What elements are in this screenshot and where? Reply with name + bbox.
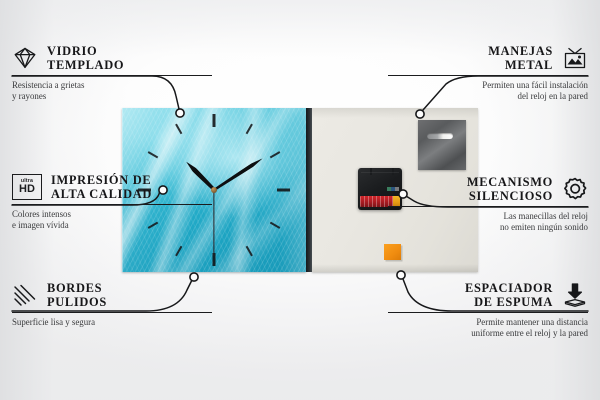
polished-edges-icon xyxy=(12,282,38,308)
feature-divider xyxy=(388,312,588,313)
feature-title: ESPACIADOR DE ESPUMA xyxy=(465,281,553,309)
feature-title: VIDRIO TEMPLADO xyxy=(47,44,124,72)
feature-description: Permiten una fácil instalación del reloj… xyxy=(388,80,588,102)
feature-header: MECANISMO SILENCIOSO xyxy=(388,175,588,203)
feature-title: MECANISMO SILENCIOSO xyxy=(467,175,553,203)
picture-hanger-icon xyxy=(562,45,588,71)
back-bottom-shading xyxy=(312,264,478,272)
infographic-canvas: VIDRIO TEMPLADO Resistencia a grietas y … xyxy=(0,0,600,400)
feature-divider xyxy=(388,206,588,207)
feature-header: ESPACIADOR DE ESPUMA xyxy=(388,281,588,309)
feature-header: VIDRIO TEMPLADO xyxy=(12,44,212,72)
feature-title: IMPRESIÓN DE ALTA CALIDAD xyxy=(51,173,152,201)
feature-divider xyxy=(388,75,588,76)
feature-impresion-alta-calidad: ultra HD IMPRESIÓN DE ALTA CALIDAD Color… xyxy=(12,173,212,231)
feature-bordes-pulidos: BORDES PULIDOS Superficie lisa y segura xyxy=(12,281,212,328)
feature-title: BORDES PULIDOS xyxy=(47,281,107,309)
feature-description: Resistencia a grietas y rayones xyxy=(12,80,212,102)
feature-description: Colores intensos e imagen vívida xyxy=(12,209,212,231)
feature-header: ultra HD IMPRESIÓN DE ALTA CALIDAD xyxy=(12,173,212,201)
down-arrow-stack-icon xyxy=(562,282,588,308)
feature-mecanismo-silencioso: MECANISMO SILENCIOSO Las manecillas del … xyxy=(388,175,588,233)
feature-vidrio-templado: VIDRIO TEMPLADO Resistencia a grietas y … xyxy=(12,44,212,102)
feature-header: MANEJAS METAL xyxy=(388,44,588,72)
feature-description: Las manecillas del reloj no emiten ningú… xyxy=(388,211,588,233)
feature-divider xyxy=(12,204,212,205)
gear-icon xyxy=(562,176,588,202)
back-top-shading xyxy=(312,108,478,118)
ultra-hd-big-label: HD xyxy=(19,184,35,195)
ultra-hd-badge-icon: ultra HD xyxy=(12,174,42,200)
diamond-icon xyxy=(12,45,38,71)
feature-title: MANEJAS METAL xyxy=(488,44,553,72)
feature-divider xyxy=(12,312,212,313)
feature-description: Permite mantener una distancia uniforme … xyxy=(388,317,588,339)
metal-hanger-plate xyxy=(418,120,466,170)
feature-espaciador-espuma: ESPACIADOR DE ESPUMA Permite mantener un… xyxy=(388,281,588,339)
foam-spacer-pad xyxy=(384,244,401,260)
feature-header: BORDES PULIDOS xyxy=(12,281,212,309)
feature-manejas-metal: MANEJAS METAL Permiten una fácil instala… xyxy=(388,44,588,102)
feature-divider xyxy=(12,75,212,76)
hanger-slot xyxy=(427,133,453,139)
feature-description: Superficie lisa y segura xyxy=(12,317,212,328)
